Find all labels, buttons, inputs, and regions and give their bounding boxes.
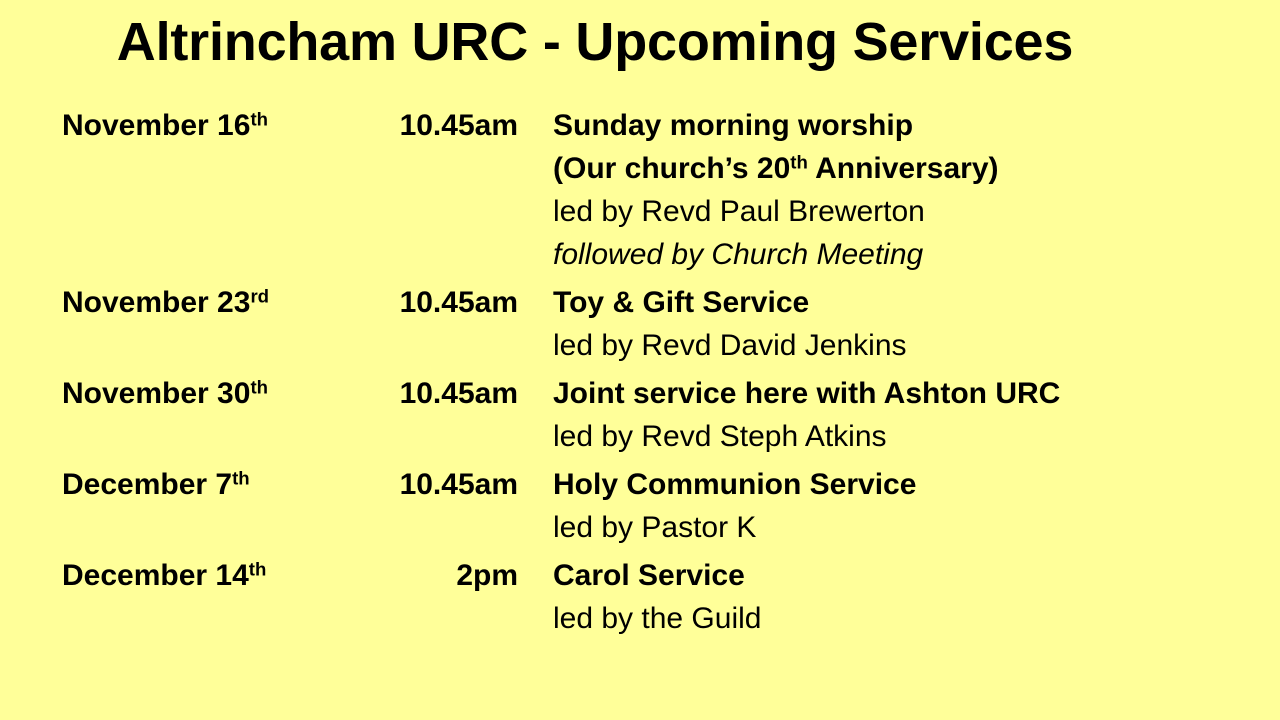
page-title: Altrincham URC - Upcoming Services bbox=[0, 12, 1190, 72]
service-description-line: Sunday morning worship bbox=[553, 104, 1242, 147]
service-row: November 16th10.45amSunday morning worsh… bbox=[62, 104, 1242, 281]
services-table-body: November 16th10.45amSunday morning worsh… bbox=[62, 104, 1242, 640]
ordinal-suffix: th bbox=[790, 151, 808, 172]
service-time: 10.45am bbox=[358, 104, 518, 281]
service-date: November 16th bbox=[62, 104, 358, 281]
service-description-line: followed by Church Meeting bbox=[553, 233, 1242, 276]
service-time: 10.45am bbox=[358, 281, 518, 372]
service-time: 10.45am bbox=[358, 372, 518, 463]
service-description-line: (Our church’s 20th Anniversary) bbox=[553, 147, 1242, 190]
services-table: November 16th10.45amSunday morning worsh… bbox=[62, 104, 1242, 640]
service-description-line: Toy & Gift Service bbox=[553, 281, 1242, 324]
service-description-line: led by the Guild bbox=[553, 597, 1242, 640]
service-row: November 30th10.45amJoint service here w… bbox=[62, 372, 1242, 463]
service-description-line: led by Revd David Jenkins bbox=[553, 324, 1242, 367]
slide-canvas: Altrincham URC - Upcoming Services Novem… bbox=[0, 0, 1280, 720]
service-row: December 7th10.45amHoly Communion Servic… bbox=[62, 463, 1242, 554]
service-description-line: led by Pastor K bbox=[553, 506, 1242, 549]
service-time: 2pm bbox=[358, 554, 518, 640]
service-description: Carol Serviceled by the Guild bbox=[518, 554, 1242, 640]
service-row: November 23rd10.45amToy & Gift Servicele… bbox=[62, 281, 1242, 372]
service-description: Toy & Gift Serviceled by Revd David Jenk… bbox=[518, 281, 1242, 372]
service-date: November 30th bbox=[62, 372, 358, 463]
service-date: November 23rd bbox=[62, 281, 358, 372]
service-date: December 14th bbox=[62, 554, 358, 640]
date-ordinal-suffix: th bbox=[232, 467, 250, 488]
service-description-line: Joint service here with Ashton URC bbox=[553, 372, 1242, 415]
date-ordinal-suffix: rd bbox=[250, 285, 269, 306]
service-date: December 7th bbox=[62, 463, 358, 554]
service-row: December 14th2pmCarol Serviceled by the … bbox=[62, 554, 1242, 640]
service-description-line: Carol Service bbox=[553, 554, 1242, 597]
service-time: 10.45am bbox=[358, 463, 518, 554]
service-description: Sunday morning worship(Our church’s 20th… bbox=[518, 104, 1242, 281]
date-ordinal-suffix: th bbox=[249, 558, 267, 579]
service-description: Holy Communion Serviceled by Pastor K bbox=[518, 463, 1242, 554]
date-ordinal-suffix: th bbox=[250, 376, 268, 397]
service-description-line: led by Revd Steph Atkins bbox=[553, 415, 1242, 458]
service-description: Joint service here with Ashton URCled by… bbox=[518, 372, 1242, 463]
service-description-line: Holy Communion Service bbox=[553, 463, 1242, 506]
date-ordinal-suffix: th bbox=[250, 108, 268, 129]
service-description-line: led by Revd Paul Brewerton bbox=[553, 190, 1242, 233]
